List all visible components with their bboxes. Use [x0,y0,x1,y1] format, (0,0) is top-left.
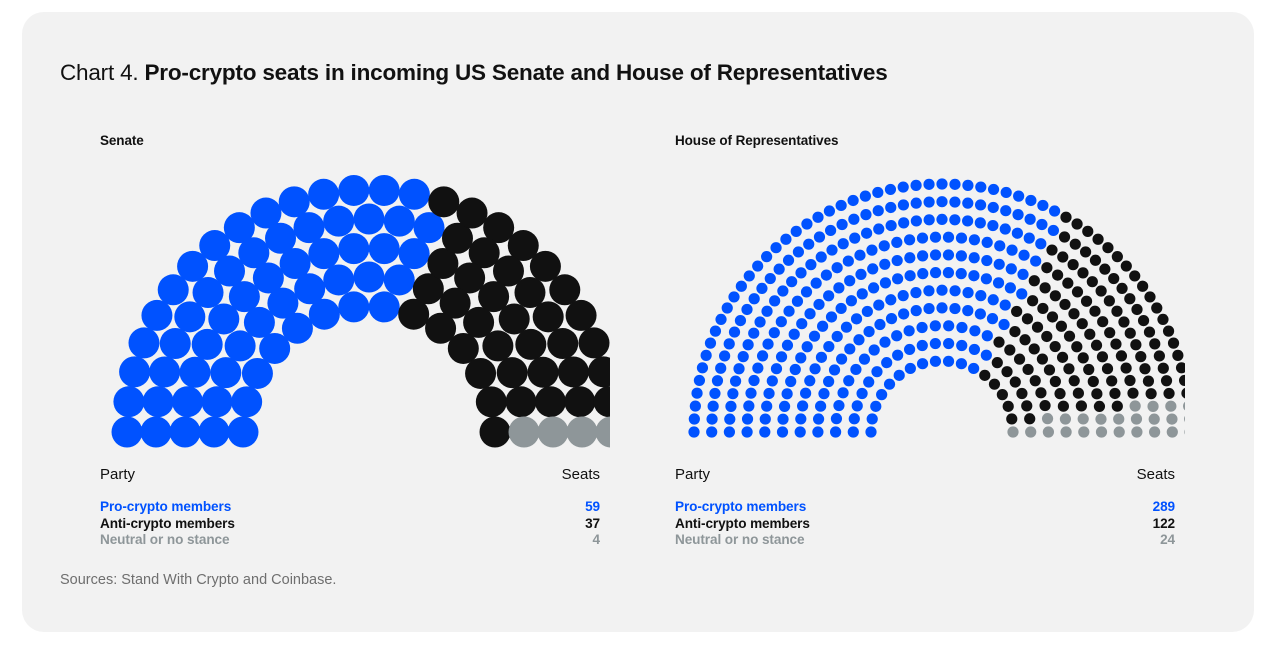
page-title: Chart 4. Pro-crypto seats in incoming US… [60,60,888,86]
legend-value: 4 [593,532,600,547]
panel-senate-title: Senate [100,133,144,148]
legend-row-anti-crypto: Anti-crypto members 122 [675,516,1175,533]
legend-value: 289 [1153,499,1175,514]
legend-row-pro-crypto: Pro-crypto members 59 [100,499,600,516]
house-arc-svg [665,162,1185,462]
legend-value: 59 [585,499,600,514]
legend-label: Neutral or no stance [675,532,804,547]
legend-label: Anti-crypto members [100,516,235,531]
senate-arc-svg [90,162,610,462]
house-legend-rows: Pro-crypto members 289 Anti-crypto membe… [675,499,1175,549]
legend-header-party: Party [675,466,710,483]
panel-house: House of Representatives Party Seats Pro… [665,122,1185,582]
legend-value: 37 [585,516,600,531]
legend-row-anti-crypto: Anti-crypto members 37 [100,516,600,533]
legend-header-party: Party [100,466,135,483]
legend-header-seats: Seats [1137,466,1175,483]
legend-header-seats: Seats [562,466,600,483]
legend-label: Pro-crypto members [100,499,231,514]
legend-value: 24 [1160,532,1175,547]
house-legend: Party Seats Pro-crypto members 289 Anti-… [675,466,1175,549]
chart-title-text: Pro-crypto seats in incoming US Senate a… [145,60,888,85]
legend-row-neutral: Neutral or no stance 24 [675,532,1175,549]
legend-row-pro-crypto: Pro-crypto members 289 [675,499,1175,516]
panel-senate: Senate Party Seats Pro-crypto members 59… [90,122,610,582]
sources-note: Sources: Stand With Crypto and Coinbase. [60,572,336,588]
house-legend-header: Party Seats [675,466,1175,490]
legend-label: Neutral or no stance [100,532,229,547]
senate-seat-diagram [90,162,610,462]
legend-label: Pro-crypto members [675,499,806,514]
senate-legend: Party Seats Pro-crypto members 59 Anti-c… [100,466,600,549]
legend-label: Anti-crypto members [675,516,810,531]
panel-house-title: House of Representatives [675,133,838,148]
senate-legend-rows: Pro-crypto members 59 Anti-crypto member… [100,499,600,549]
house-seat-diagram [665,162,1185,462]
chart-number: Chart 4. [60,60,138,85]
legend-row-neutral: Neutral or no stance 4 [100,532,600,549]
legend-value: 122 [1153,516,1175,531]
senate-legend-header: Party Seats [100,466,600,490]
chart-card: Chart 4. Pro-crypto seats in incoming US… [22,12,1254,632]
